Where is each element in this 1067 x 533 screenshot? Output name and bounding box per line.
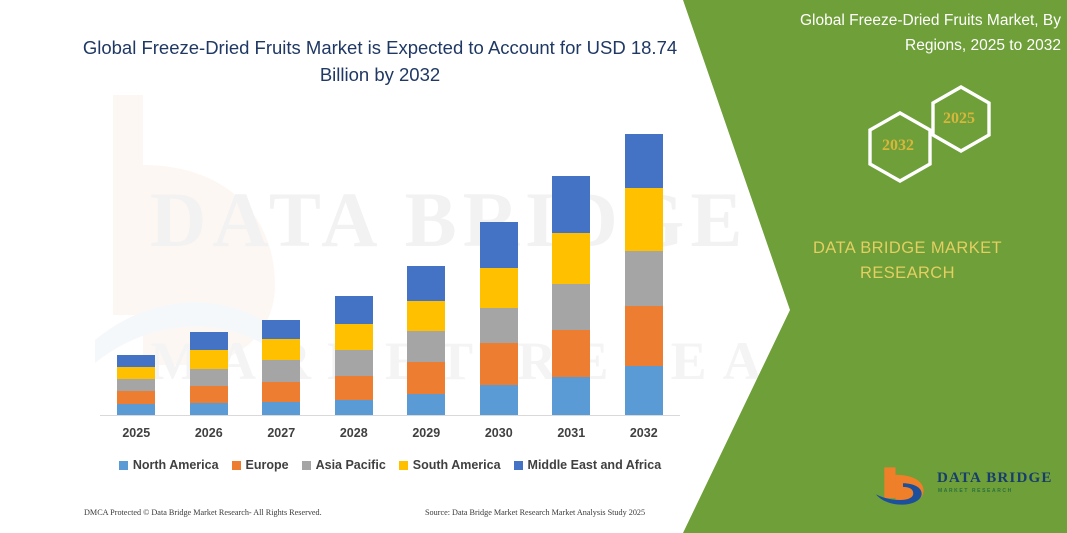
logo-name: DATA BRIDGE (937, 470, 1053, 487)
footer-source: Source: Data Bridge Market Research Mark… (425, 508, 645, 517)
bar-segment (552, 330, 590, 377)
bar-group-2028 (335, 296, 373, 416)
legend-label: Europe (246, 458, 289, 472)
bar-segment (190, 332, 228, 349)
legend-label: Asia Pacific (316, 458, 386, 472)
bar-segment (407, 394, 445, 416)
hexagon-group: 2032 2025 (825, 85, 1065, 205)
legend-swatch-icon (119, 461, 128, 470)
right-panel-content: Global Freeze-Dried Fruits Market, By Re… (735, 0, 1067, 533)
bar-segment (480, 343, 518, 384)
logo-subtitle: MARKET RESEARCH (938, 488, 1013, 494)
hexagon-outlines-icon (825, 85, 1065, 205)
hexagon-label-2025: 2025 (943, 110, 975, 128)
bar-segment (262, 382, 300, 402)
bar-segment (262, 360, 300, 382)
bar-segment (625, 188, 663, 251)
data-bridge-logo: DATA BRIDGE MARKET RESEARCH (875, 462, 1060, 510)
bar-group-2032 (625, 134, 663, 416)
bar-segment (480, 308, 518, 343)
legend-item-north-america[interactable]: North America (119, 458, 219, 472)
x-axis-labels: 20252026202720282029203020312032 (100, 426, 680, 446)
right-panel-title: Global Freeze-Dried Fruits Market, By Re… (735, 8, 1061, 58)
bar-segment (190, 350, 228, 370)
bar-segment (335, 400, 373, 416)
bar-segment (262, 339, 300, 360)
bar-segment (335, 296, 373, 324)
bar-segment (625, 251, 663, 306)
bar-segment (117, 391, 155, 404)
bar-segment (407, 362, 445, 393)
bar-group-2031 (552, 176, 590, 416)
footer: DMCA Protected © Data Bridge Market Rese… (84, 508, 684, 524)
bar-segment (552, 377, 590, 416)
bar-segment (117, 355, 155, 367)
bar-group-2027 (262, 320, 300, 416)
bar-segment (262, 320, 300, 340)
bar-segment (407, 331, 445, 362)
legend-item-south-america[interactable]: South America (399, 458, 501, 472)
x-label-2029: 2029 (396, 426, 456, 440)
bar-segment (552, 284, 590, 329)
brand-line-2: RESEARCH (785, 261, 1030, 286)
bar-segment (335, 324, 373, 350)
legend-swatch-icon (399, 461, 408, 470)
bar-segment (480, 222, 518, 268)
legend-item-europe[interactable]: Europe (232, 458, 289, 472)
bar-group-2025 (117, 355, 155, 416)
bar-segment (625, 134, 663, 189)
x-label-2025: 2025 (106, 426, 166, 440)
x-axis-line (100, 415, 680, 416)
hexagon-label-2032: 2032 (882, 137, 914, 155)
bar-segment (552, 176, 590, 233)
logo-mark-icon (875, 464, 931, 508)
bar-segment (190, 369, 228, 386)
x-label-2026: 2026 (179, 426, 239, 440)
legend-swatch-icon (302, 461, 311, 470)
bar-segment (407, 266, 445, 301)
bar-group-2030 (480, 222, 518, 416)
bar-segment (335, 350, 373, 376)
left-chart-panel: DATA BRIDGE MARKET RESEARCH Global Freez… (0, 0, 760, 533)
chart-legend: North AmericaEuropeAsia PacificSouth Ame… (100, 456, 680, 474)
chart-title: Global Freeze-Dried Fruits Market is Exp… (70, 34, 690, 88)
x-label-2031: 2031 (541, 426, 601, 440)
bar-segment (117, 379, 155, 391)
bar-segment (480, 268, 518, 308)
x-label-2032: 2032 (614, 426, 674, 440)
x-label-2030: 2030 (469, 426, 529, 440)
brand-line-1: DATA BRIDGE MARKET (785, 236, 1030, 261)
legend-swatch-icon (514, 461, 523, 470)
legend-swatch-icon (232, 461, 241, 470)
legend-item-asia-pacific[interactable]: Asia Pacific (302, 458, 386, 472)
bar-segment (262, 402, 300, 416)
stacked-bar-chart (100, 110, 680, 416)
bar-segment (117, 367, 155, 379)
legend-label: North America (133, 458, 219, 472)
bar-segment (552, 233, 590, 285)
brand-text: DATA BRIDGE MARKET RESEARCH (785, 236, 1030, 286)
bar-segment (625, 306, 663, 367)
infographic-canvas: DATA BRIDGE MARKET RESEARCH Global Freez… (0, 0, 1067, 533)
bar-group-2029 (407, 266, 445, 416)
bar-segment (190, 386, 228, 403)
legend-item-middle-east-and-africa[interactable]: Middle East and Africa (514, 458, 662, 472)
bar-group-2026 (190, 332, 228, 416)
bar-segment (625, 366, 663, 416)
legend-label: South America (413, 458, 501, 472)
legend-label: Middle East and Africa (528, 458, 662, 472)
footer-copyright: DMCA Protected © Data Bridge Market Rese… (84, 508, 322, 517)
x-label-2027: 2027 (251, 426, 311, 440)
bar-segment (407, 301, 445, 331)
x-label-2028: 2028 (324, 426, 384, 440)
bar-segment (335, 376, 373, 400)
bar-segment (480, 385, 518, 416)
